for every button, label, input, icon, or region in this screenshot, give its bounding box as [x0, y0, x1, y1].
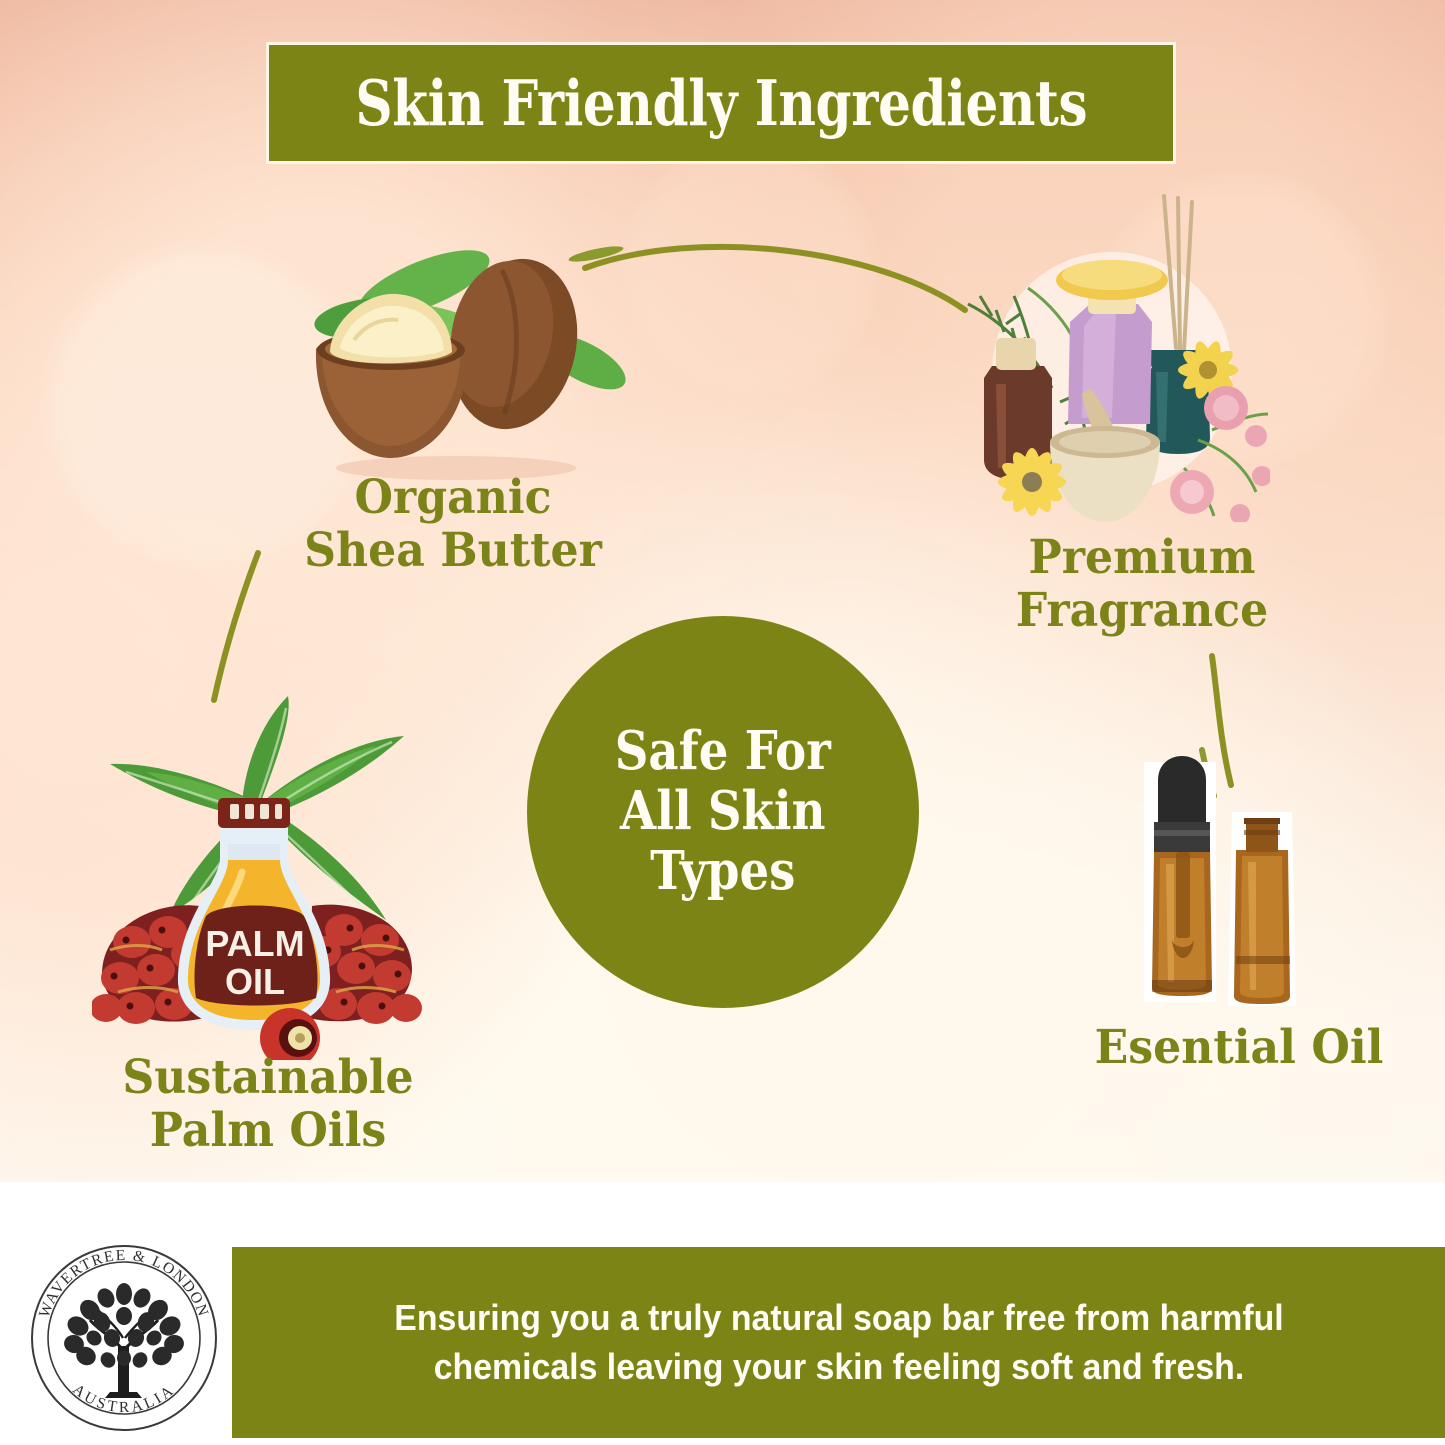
shea-butter-illustration: [296, 222, 626, 484]
bottle-label-line2: OIL: [225, 961, 285, 1002]
center-badge-line-2: All Skin: [615, 782, 831, 842]
infographic-page: Skin Friendly Ingredients: [0, 0, 1445, 1445]
brand-logo: WAVERTREE & LONDON AUSTRALIA: [24, 1238, 224, 1438]
center-badge-text: Safe For All Skin Types: [615, 722, 831, 902]
connector-shea-to-palm: [214, 553, 258, 700]
palm-oil-illustration: PALM OIL: [92, 692, 422, 1060]
leaf-icon: [568, 243, 625, 264]
ingredient-label-palm-oil: Sustainable Palm Oils: [80, 1052, 456, 1157]
footer-message-bar: Ensuring you a truly natural soap bar fr…: [232, 1247, 1445, 1438]
rose-bud-icon: [1230, 504, 1250, 522]
rose-bud-icon: [1252, 466, 1270, 486]
connector-shea-to-fragrance: [585, 247, 965, 310]
rose-bud-icon: [1245, 425, 1267, 447]
essential-oil-illustration: [1124, 744, 1344, 1014]
center-badge-line-3: Types: [615, 842, 831, 902]
center-badge: Safe For All Skin Types: [527, 616, 919, 1008]
premium-fragrance-illustration: [940, 192, 1270, 522]
footer-message: Ensuring you a truly natural soap bar fr…: [326, 1294, 1351, 1390]
center-badge-line-1: Safe For: [615, 722, 831, 782]
bottle-label-line1: PALM: [205, 923, 304, 964]
ingredient-label-essential-oil: Esential Oil: [1056, 1022, 1423, 1075]
dropper-cap: [1158, 756, 1206, 822]
ingredient-label-shea-butter: Organic Shea Butter: [279, 472, 627, 577]
ingredient-label-premium-fragrance: Premium Fragrance: [973, 532, 1311, 637]
